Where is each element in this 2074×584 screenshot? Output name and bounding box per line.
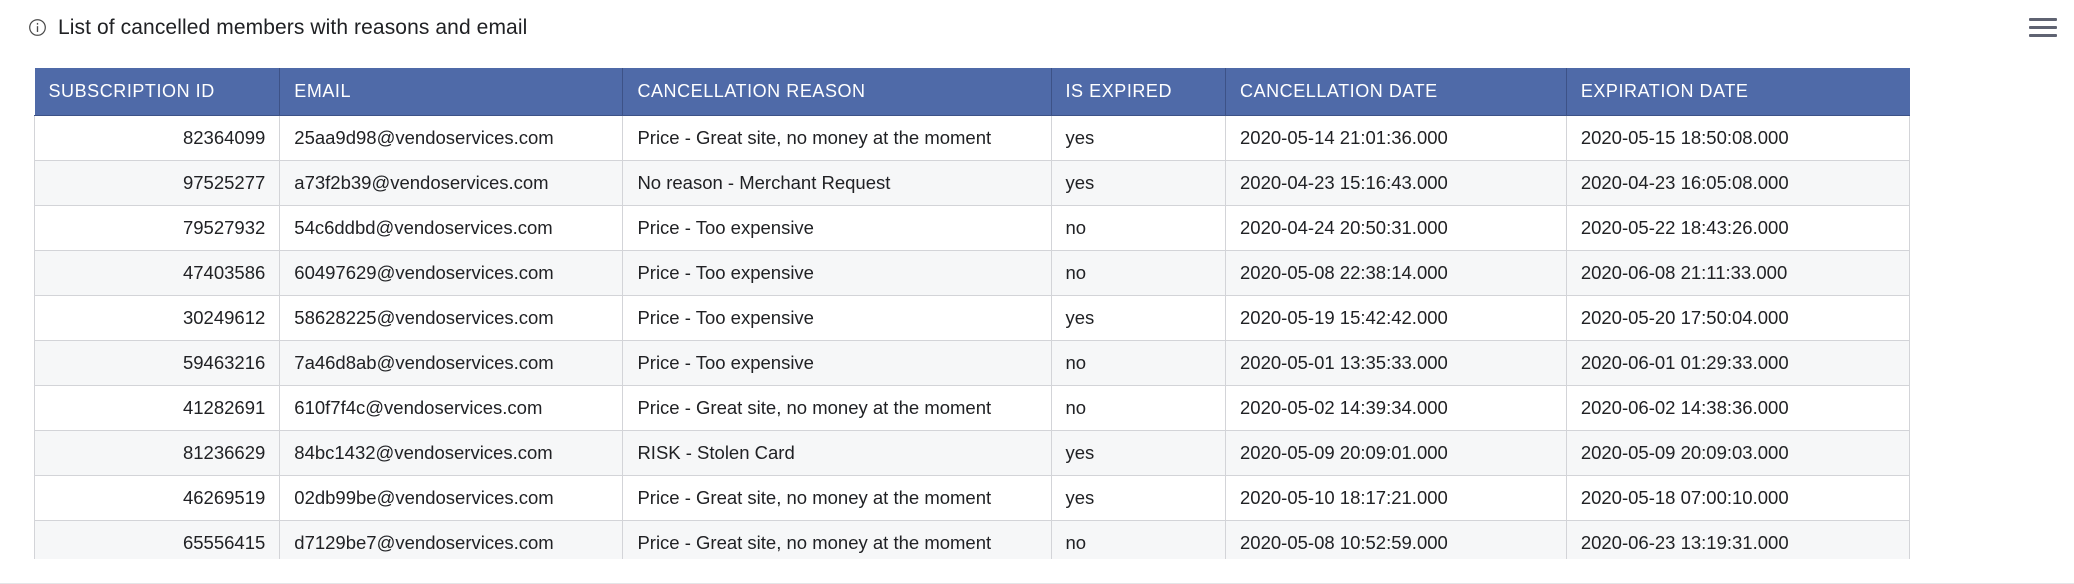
cell-expiration-date: 2020-05-20 17:50:04.000 bbox=[1566, 295, 1909, 340]
cell-cancellation-date: 2020-05-02 14:39:34.000 bbox=[1226, 385, 1567, 430]
cell-cancellation-reason: Price - Too expensive bbox=[623, 250, 1051, 295]
cell-expiration-date: 2020-05-22 18:43:26.000 bbox=[1566, 205, 1909, 250]
title-group: List of cancelled members with reasons a… bbox=[28, 16, 527, 40]
cell-cancellation-date: 2020-05-10 18:17:21.000 bbox=[1226, 475, 1567, 520]
cell-is-expired: yes bbox=[1051, 475, 1226, 520]
cell-expiration-date: 2020-06-01 01:29:33.000 bbox=[1566, 340, 1909, 385]
cell-subscription-id: 82364099 bbox=[35, 115, 280, 160]
cell-subscription-id: 97525277 bbox=[35, 160, 280, 205]
cell-cancellation-reason: Price - Great site, no money at the mome… bbox=[623, 385, 1051, 430]
cell-cancellation-date: 2020-05-14 21:01:36.000 bbox=[1226, 115, 1567, 160]
cell-cancellation-date: 2020-05-09 20:09:01.000 bbox=[1226, 430, 1567, 475]
table-row[interactable]: 97525277a73f2b39@vendoservices.comNo rea… bbox=[35, 160, 1910, 205]
cell-expiration-date: 2020-06-23 13:19:31.000 bbox=[1566, 520, 1909, 559]
cell-email: 7a46d8ab@vendoservices.com bbox=[280, 340, 623, 385]
cell-expiration-date: 2020-06-08 21:11:33.000 bbox=[1566, 250, 1909, 295]
table-row[interactable]: 7952793254c6ddbd@vendoservices.comPrice … bbox=[35, 205, 1910, 250]
cell-cancellation-reason: Price - Great site, no money at the mome… bbox=[623, 475, 1051, 520]
cell-expiration-date: 2020-06-02 14:38:36.000 bbox=[1566, 385, 1909, 430]
table-row[interactable]: 8236409925aa9d98@vendoservices.comPrice … bbox=[35, 115, 1910, 160]
cell-cancellation-reason: RISK - Stolen Card bbox=[623, 430, 1051, 475]
column-header-cancellation-reason[interactable]: CANCELLATION REASON bbox=[623, 68, 1051, 115]
cell-is-expired: no bbox=[1051, 385, 1226, 430]
info-circle-icon bbox=[28, 18, 47, 37]
menu-bar-2 bbox=[2029, 26, 2057, 29]
cell-subscription-id: 30249612 bbox=[35, 295, 280, 340]
cell-cancellation-reason: Price - Too expensive bbox=[623, 295, 1051, 340]
cell-email: 25aa9d98@vendoservices.com bbox=[280, 115, 623, 160]
cell-cancellation-date: 2020-04-24 20:50:31.000 bbox=[1226, 205, 1567, 250]
cell-subscription-id: 79527932 bbox=[35, 205, 280, 250]
column-header-subscription-id[interactable]: SUBSCRIPTION ID bbox=[35, 68, 280, 115]
table-header: SUBSCRIPTION ID EMAIL CANCELLATION REASO… bbox=[35, 68, 1910, 115]
report-panel: List of cancelled members with reasons a… bbox=[0, 0, 2074, 584]
cell-email: 84bc1432@vendoservices.com bbox=[280, 430, 623, 475]
menu-bar-1 bbox=[2029, 18, 2057, 21]
cell-email: 58628225@vendoservices.com bbox=[280, 295, 623, 340]
cell-expiration-date: 2020-05-15 18:50:08.000 bbox=[1566, 115, 1909, 160]
cell-expiration-date: 2020-05-09 20:09:03.000 bbox=[1566, 430, 1909, 475]
cancelled-members-table: SUBSCRIPTION ID EMAIL CANCELLATION REASO… bbox=[34, 68, 1910, 559]
cell-email: 60497629@vendoservices.com bbox=[280, 250, 623, 295]
table-header-row: SUBSCRIPTION ID EMAIL CANCELLATION REASO… bbox=[35, 68, 1910, 115]
menu-bar-3 bbox=[2029, 34, 2057, 37]
cell-subscription-id: 81236629 bbox=[35, 430, 280, 475]
cell-is-expired: no bbox=[1051, 205, 1226, 250]
cell-subscription-id: 59463216 bbox=[35, 340, 280, 385]
cell-cancellation-reason: Price - Great site, no money at the mome… bbox=[623, 520, 1051, 559]
cell-cancellation-date: 2020-05-08 10:52:59.000 bbox=[1226, 520, 1567, 559]
cell-cancellation-date: 2020-05-01 13:35:33.000 bbox=[1226, 340, 1567, 385]
cell-subscription-id: 46269519 bbox=[35, 475, 280, 520]
cell-cancellation-reason: No reason - Merchant Request bbox=[623, 160, 1051, 205]
cell-subscription-id: 47403586 bbox=[35, 250, 280, 295]
table-row[interactable]: 65556415d7129be7@vendoservices.comPrice … bbox=[35, 520, 1910, 559]
cell-is-expired: no bbox=[1051, 520, 1226, 559]
panel-header: List of cancelled members with reasons a… bbox=[0, 0, 2074, 55]
cell-expiration-date: 2020-05-18 07:00:10.000 bbox=[1566, 475, 1909, 520]
table-body: 8236409925aa9d98@vendoservices.comPrice … bbox=[35, 115, 1910, 559]
column-header-cancellation-date[interactable]: CANCELLATION DATE bbox=[1226, 68, 1567, 115]
column-header-email[interactable]: EMAIL bbox=[280, 68, 623, 115]
cell-subscription-id: 65556415 bbox=[35, 520, 280, 559]
cell-cancellation-reason: Price - Great site, no money at the mome… bbox=[623, 115, 1051, 160]
cell-email: 54c6ddbd@vendoservices.com bbox=[280, 205, 623, 250]
table-row[interactable]: 594632167a46d8ab@vendoservices.comPrice … bbox=[35, 340, 1910, 385]
column-header-is-expired[interactable]: IS EXPIRED bbox=[1051, 68, 1226, 115]
table-row[interactable]: 3024961258628225@vendoservices.comPrice … bbox=[35, 295, 1910, 340]
table-row[interactable]: 41282691610f7f4c@vendoservices.comPrice … bbox=[35, 385, 1910, 430]
cell-email: d7129be7@vendoservices.com bbox=[280, 520, 623, 559]
table-row[interactable]: 8123662984bc1432@vendoservices.comRISK -… bbox=[35, 430, 1910, 475]
cell-cancellation-date: 2020-05-08 22:38:14.000 bbox=[1226, 250, 1567, 295]
table-row[interactable]: 4626951902db99be@vendoservices.comPrice … bbox=[35, 475, 1910, 520]
cell-expiration-date: 2020-04-23 16:05:08.000 bbox=[1566, 160, 1909, 205]
cell-cancellation-reason: Price - Too expensive bbox=[623, 205, 1051, 250]
table-row[interactable]: 4740358660497629@vendoservices.comPrice … bbox=[35, 250, 1910, 295]
cell-email: a73f2b39@vendoservices.com bbox=[280, 160, 623, 205]
cell-cancellation-date: 2020-05-19 15:42:42.000 bbox=[1226, 295, 1567, 340]
cell-cancellation-date: 2020-04-23 15:16:43.000 bbox=[1226, 160, 1567, 205]
hamburger-menu-icon[interactable] bbox=[2026, 12, 2060, 42]
cell-is-expired: yes bbox=[1051, 430, 1226, 475]
cell-email: 02db99be@vendoservices.com bbox=[280, 475, 623, 520]
cell-email: 610f7f4c@vendoservices.com bbox=[280, 385, 623, 430]
cell-is-expired: no bbox=[1051, 250, 1226, 295]
table-scroll-container[interactable]: SUBSCRIPTION ID EMAIL CANCELLATION REASO… bbox=[34, 68, 1910, 559]
cell-is-expired: yes bbox=[1051, 295, 1226, 340]
cell-is-expired: yes bbox=[1051, 115, 1226, 160]
cell-is-expired: no bbox=[1051, 340, 1226, 385]
cell-is-expired: yes bbox=[1051, 160, 1226, 205]
column-header-expiration-date[interactable]: EXPIRATION DATE bbox=[1566, 68, 1909, 115]
page-title: List of cancelled members with reasons a… bbox=[58, 16, 527, 40]
cell-cancellation-reason: Price - Too expensive bbox=[623, 340, 1051, 385]
cell-subscription-id: 41282691 bbox=[35, 385, 280, 430]
